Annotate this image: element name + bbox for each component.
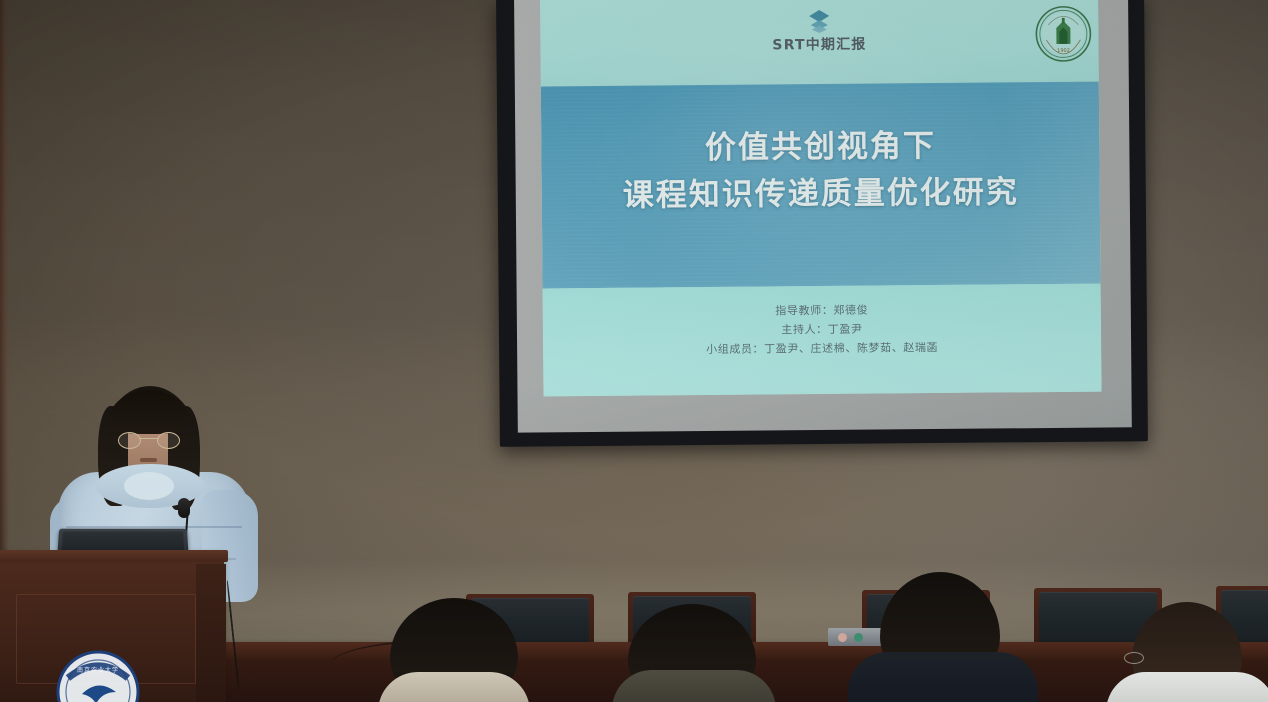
audience-member-1-body: [378, 672, 530, 702]
presentation-room-photo: SRT中期汇报 1902: [0, 0, 1268, 702]
podium-side-panel: [196, 564, 226, 702]
presenter-glasses: [118, 432, 180, 448]
slide-title-line-1: 价值共创视角下: [541, 122, 1099, 174]
audience-member-4-body: [1106, 672, 1268, 702]
glasses-bridge: [139, 438, 159, 439]
svg-text:南京农业大学: 南京农业大学: [77, 666, 119, 674]
podium-institution-emblem: 南京农业大学: [38, 648, 158, 702]
projection-screen-surface: SRT中期汇报 1902: [514, 0, 1132, 433]
audience-member-4: [1132, 602, 1242, 702]
layers-stack-icon: [806, 8, 832, 34]
jacket-collar-inner: [124, 472, 174, 500]
audience-member-1: [390, 598, 518, 702]
podium-top-surface: [0, 550, 228, 562]
projection-screen-frame: SRT中期汇报 1902: [496, 0, 1148, 447]
projected-slide: SRT中期汇报 1902: [540, 0, 1101, 396]
laptop-sticker-1: [838, 633, 847, 642]
slide-credits: 指导教师：郑德俊 主持人：丁盈尹 小组成员：丁盈尹、庄述棉、陈梦茹、赵瑞菡: [543, 299, 1101, 361]
presenter-mouth: [140, 458, 157, 462]
microphone-icon: [178, 498, 190, 518]
audience-member-2-body: [612, 670, 776, 702]
slide-title: 价值共创视角下 课程知识传递质量优化研究: [541, 122, 1100, 221]
glasses-right-lens: [157, 432, 180, 449]
glasses-left-lens: [118, 432, 141, 449]
slide-title-line-2: 课程知识传递质量优化研究: [542, 169, 1100, 221]
laptop-sticker-2: [854, 633, 863, 642]
audience-member-4-glasses: [1124, 652, 1144, 664]
audience-member-3-body: [848, 652, 1038, 702]
jacket-seam-upper: [66, 526, 242, 528]
university-seal-logo: 1902: [1034, 0, 1093, 72]
audience-member-3: [880, 572, 1000, 684]
audience-member-2: [628, 604, 756, 702]
